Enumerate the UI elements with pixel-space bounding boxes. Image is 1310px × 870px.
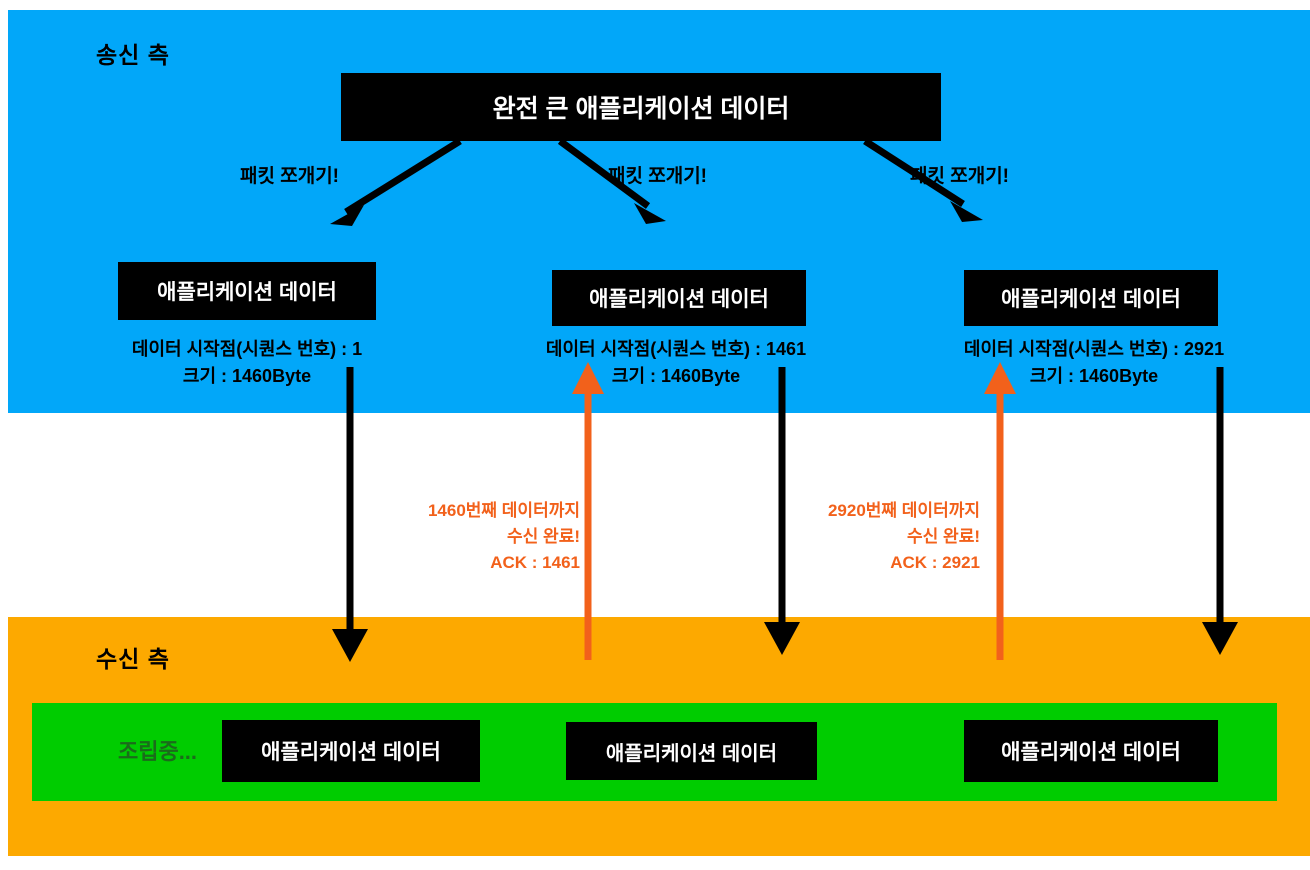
data-arrow-2 xyxy=(764,367,800,655)
ack-arrow-1 xyxy=(572,362,604,660)
split-arrow-1 xyxy=(330,141,460,226)
split-label-3: 패킷 쪼개기! xyxy=(910,161,1009,188)
data-arrow-3 xyxy=(1202,367,1238,655)
split-label-2: 패킷 쪼개기! xyxy=(608,161,707,188)
arrow-layer xyxy=(0,0,1310,870)
data-arrow-1 xyxy=(332,367,368,662)
diagram-canvas: 송신 측 수신 측 완전 큰 애플리케이션 데이터 애플리케이션 데이터 애플리… xyxy=(0,0,1310,870)
ack-arrow-2 xyxy=(984,362,1016,660)
split-label-1: 패킷 쪼개기! xyxy=(240,161,339,188)
